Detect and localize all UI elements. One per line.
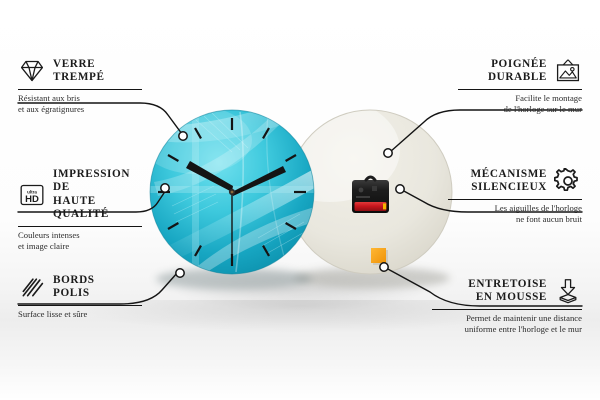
- feature-title-line2: POLIS: [53, 287, 95, 300]
- leader-line-poignee: [390, 110, 582, 152]
- feature-title: IMPRESSION DE HAUTE QUALITÉ: [53, 168, 142, 222]
- feature-desc-line2: de l'horloge sur le mur: [458, 104, 582, 115]
- feature-mecanisme-silencieux: MÉCANISME SILENCIEUX Les aiguilles de l'…: [448, 168, 582, 225]
- feature-divider: [18, 89, 142, 90]
- feature-description: Facilite le montage de l'horloge sur le …: [458, 93, 582, 115]
- feature-desc-line1: Surface lisse et sûre: [18, 309, 142, 320]
- feature-title-line1: MÉCANISME: [471, 168, 547, 181]
- feature-desc-line2: uniforme entre l'horloge et le mur: [432, 324, 582, 335]
- feature-title: MÉCANISME SILENCIEUX: [471, 168, 547, 195]
- feature-title-line2: EN MOUSSE: [468, 291, 547, 304]
- feature-desc-line2: et aux égratignures: [18, 104, 142, 115]
- feature-header: ENTRETOISE EN MOUSSE: [432, 278, 582, 305]
- feature-impression-haute-qualite: ultra HD IMPRESSION DE HAUTE QUALITÉ Cou…: [18, 168, 142, 252]
- feature-bords-polis: BORDS POLIS Surface lisse et sûre: [18, 274, 142, 320]
- feature-verre-trempe: VERRE TREMPÉ Résistant aux bris et aux é…: [18, 58, 142, 115]
- picture-hanger-icon: [554, 58, 582, 84]
- leader-endpoint-impression: [161, 184, 169, 192]
- leader-endpoint-mecanisme: [396, 185, 404, 193]
- feature-title: POIGNÉE DURABLE: [488, 58, 547, 85]
- leader-endpoint-entretoise: [380, 263, 388, 271]
- feature-desc-line2: et image claire: [18, 241, 142, 252]
- foam-spacer-icon: [554, 278, 582, 304]
- feature-title: VERRE TREMPÉ: [53, 58, 105, 85]
- feature-desc-line1: Facilite le montage: [458, 93, 582, 104]
- feature-title-line2: SILENCIEUX: [471, 181, 547, 194]
- feature-divider: [18, 226, 142, 227]
- ultra-hd-icon: ultra HD: [18, 182, 46, 208]
- feature-description: Surface lisse et sûre: [18, 309, 142, 320]
- feature-desc-line1: Les aiguilles de l'horloge: [448, 203, 582, 214]
- leader-endpoint-poignee: [384, 149, 392, 157]
- feature-title-line1: BORDS: [53, 274, 95, 287]
- feature-title-line1: POIGNÉE: [488, 58, 547, 71]
- ultra-hd-icon-main-text: HD: [25, 194, 39, 205]
- feature-description: Résistant aux bris et aux égratignures: [18, 93, 142, 115]
- feature-header: ultra HD IMPRESSION DE HAUTE QUALITÉ: [18, 168, 142, 222]
- polished-edges-icon: [18, 274, 46, 300]
- feature-poignee-durable: POIGNÉE DURABLE Facilite le montage de l…: [458, 58, 582, 115]
- feature-header: POIGNÉE DURABLE: [458, 58, 582, 85]
- feature-header: MÉCANISME SILENCIEUX: [448, 168, 582, 195]
- feature-title: BORDS POLIS: [53, 274, 95, 301]
- feature-desc-line1: Couleurs intenses: [18, 230, 142, 241]
- infographic-canvas: VERRE TREMPÉ Résistant aux bris et aux é…: [0, 0, 600, 400]
- feature-divider: [448, 199, 582, 200]
- feature-desc-line1: Résistant aux bris: [18, 93, 142, 104]
- feature-divider: [18, 305, 142, 306]
- leader-endpoint-bords-polis: [176, 269, 184, 277]
- feature-title-line1: IMPRESSION DE: [53, 168, 142, 195]
- gear-icon: [554, 168, 582, 194]
- feature-description: Permet de maintenir une distance uniform…: [432, 313, 582, 335]
- feature-title-line2: HAUTE QUALITÉ: [53, 195, 142, 222]
- feature-title-line1: VERRE: [53, 58, 105, 71]
- feature-header: VERRE TREMPÉ: [18, 58, 142, 85]
- feature-desc-line2: ne font aucun bruit: [448, 214, 582, 225]
- feature-description: Les aiguilles de l'horloge ne font aucun…: [448, 203, 582, 225]
- feature-title-line2: TREMPÉ: [53, 71, 105, 84]
- feature-description: Couleurs intenses et image claire: [18, 230, 142, 252]
- feature-divider: [458, 89, 582, 90]
- leader-endpoint-verre-trempe: [179, 132, 187, 140]
- feature-header: BORDS POLIS: [18, 274, 142, 301]
- feature-title: ENTRETOISE EN MOUSSE: [468, 278, 547, 305]
- feature-desc-line1: Permet de maintenir une distance: [432, 313, 582, 324]
- feature-divider: [432, 309, 582, 310]
- feature-title-line1: ENTRETOISE: [468, 278, 547, 291]
- feature-entretoise-en-mousse: ENTRETOISE EN MOUSSE Permet de maintenir…: [432, 278, 582, 335]
- feature-title-line2: DURABLE: [488, 71, 547, 84]
- diamond-icon: [18, 58, 46, 84]
